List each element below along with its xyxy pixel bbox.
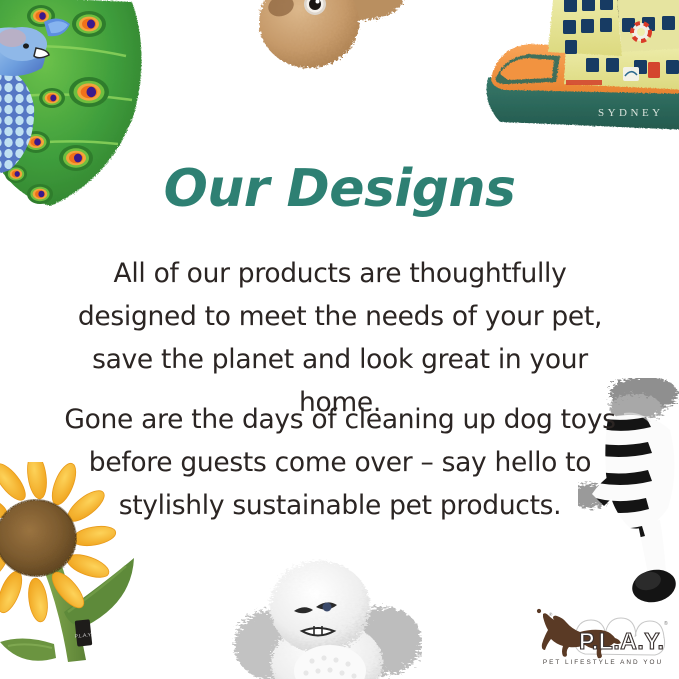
registered-mark: ® <box>664 620 668 627</box>
ferry-name-label: SYDNEY <box>598 107 664 119</box>
registered-mark-small: ® <box>549 611 553 617</box>
sydney-ferry-plush-toy: SYDNEY <box>470 0 679 147</box>
brand-tagline: PET LIFESTYLE AND YOU <box>543 659 663 666</box>
product-lifestyle-image: SYDNEY <box>0 0 679 679</box>
sunflower-plush-toy: P.L.A.Y. <box>0 462 157 679</box>
yeti-plush-toy <box>232 545 422 679</box>
brown-plush-animal-toy <box>245 0 405 80</box>
peacock-plush-toy <box>0 0 160 220</box>
brand-wordmark: P.L.A.Y. <box>579 628 664 654</box>
zebra-plush-toy <box>578 378 679 613</box>
paragraph-design-philosophy: All of our products are thoughtfully des… <box>60 252 620 424</box>
play-brand-logo: ® ® P.L.A.Y. PET LIFESTYLE AND YOU <box>533 607 673 669</box>
